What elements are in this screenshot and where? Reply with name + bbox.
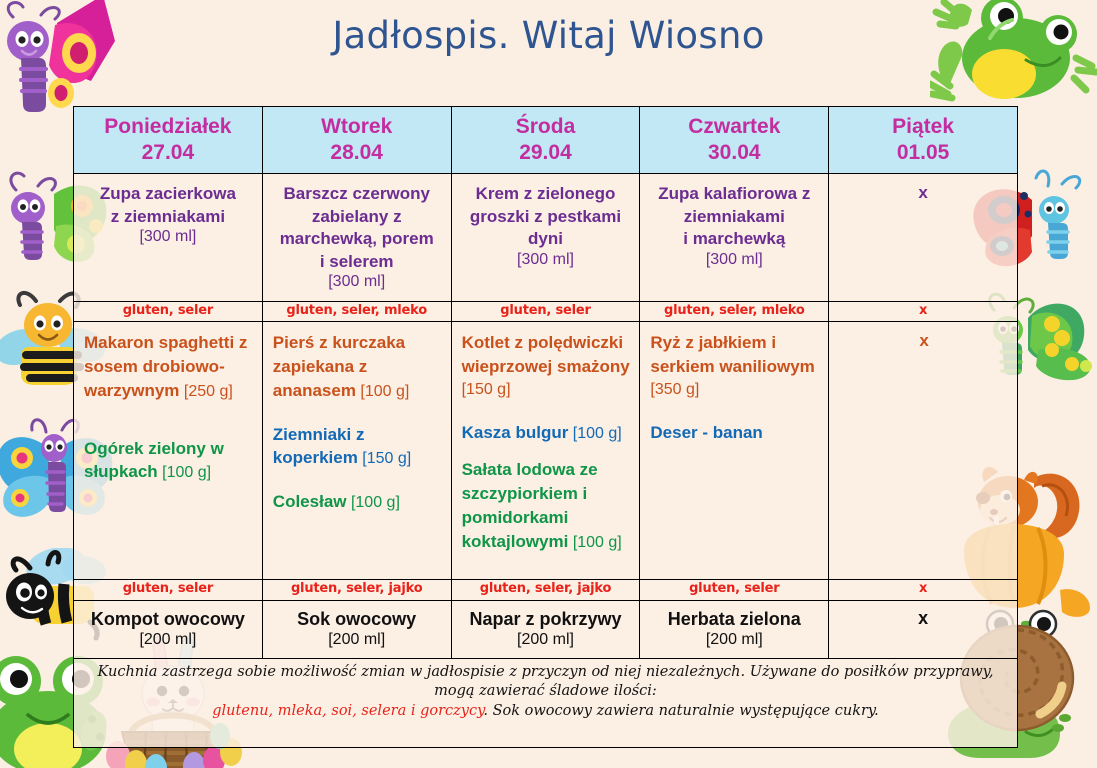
header-date-label: 01.05 <box>831 140 1015 166</box>
allergen-cell: gluten, seler <box>451 301 640 321</box>
header-cell-wednesday: Środa 29.04 <box>451 107 640 174</box>
drink-row: Kompot owocowy [200 ml] Sok owocowy [200… <box>74 600 1018 658</box>
page-title: Jadłospis. Witaj Wiosno <box>0 14 1097 57</box>
spacer <box>462 401 632 421</box>
soup-name: Zupa zacierkowaz ziemniakami <box>80 183 256 228</box>
drink-qty: [200 ml] <box>267 631 447 649</box>
salad-dish: Sałata lodowa ze szczypiorkiem i pomidor… <box>462 458 632 553</box>
footer-note-cell: Kuchnia zastrzega sobie możliwość zmian … <box>74 658 1018 747</box>
main-dish-qty: [150 g] <box>462 381 511 398</box>
drink-qty: [200 ml] <box>78 631 258 649</box>
soup-qty: [300 ml] <box>80 228 256 246</box>
table-header-row: Poniedziałek 27.04 Wtorek 28.04 Środa 29… <box>74 107 1018 174</box>
main-dish-qty: [100 g] <box>360 383 409 400</box>
dessert-dish: Deser - banan <box>650 421 820 445</box>
soup-cell-wednesday: Krem z zielonegogroszki z pestkamidyni [… <box>451 174 640 302</box>
drink-qty: [200 ml] <box>456 631 636 649</box>
allergen-row-soup: gluten, seler gluten, seler, mleko glute… <box>74 301 1018 321</box>
side-dish-qty: [150 g] <box>362 450 411 467</box>
allergen-cell: gluten, seler <box>74 580 263 600</box>
spacer <box>650 401 820 421</box>
spacer <box>84 403 254 423</box>
header-day-label: Poniedziałek <box>76 114 260 140</box>
header-date-label: 27.04 <box>76 140 260 166</box>
allergen-cell: gluten, seler <box>640 580 829 600</box>
main-dish-qty: [250 g] <box>184 383 233 400</box>
drink-name: Kompot owocowy <box>78 608 258 631</box>
header-cell-thursday: Czwartek 30.04 <box>640 107 829 174</box>
footer-note-line1: Kuchnia zastrzega sobie możliwość zmian … <box>97 664 993 699</box>
drink-none-mark: x <box>833 608 1013 629</box>
spacer <box>84 423 254 437</box>
side-dish: Kasza bulgur [100 g] <box>462 421 632 445</box>
drink-name: Napar z pokrzywy <box>456 608 636 631</box>
soup-cell-friday: x <box>829 174 1018 302</box>
main-dish: Makaron spaghetti z sosem drobiowo-warzy… <box>84 331 254 402</box>
spacer <box>273 403 443 423</box>
header-cell-tuesday: Wtorek 28.04 <box>262 107 451 174</box>
header-day-label: Środa <box>454 114 638 140</box>
header-day-label: Piątek <box>831 114 1015 140</box>
header-date-label: 29.04 <box>454 140 638 166</box>
drink-name: Sok owocowy <box>267 608 447 631</box>
header-cell-friday: Piątek 01.05 <box>829 107 1018 174</box>
menu-table: Poniedziałek 27.04 Wtorek 28.04 Środa 29… <box>73 106 1018 748</box>
side-dish-qty: [100 g] <box>573 425 622 442</box>
allergen-cell: gluten, seler, jajko <box>262 580 451 600</box>
main-dish: Pierś z kurczaka zapiekana z ananasem [1… <box>273 331 443 402</box>
drink-cell-thursday: Herbata zielona [200 ml] <box>640 600 829 658</box>
allergen-cell: x <box>829 580 1018 600</box>
drink-cell-tuesday: Sok owocowy [200 ml] <box>262 600 451 658</box>
header-cell-monday: Poniedziałek 27.04 <box>74 107 263 174</box>
salad-name: Colesław <box>273 492 347 511</box>
allergen-cell: gluten, seler, mleko <box>262 301 451 321</box>
allergen-cell: gluten, seler <box>74 301 263 321</box>
main-dish: Ryż z jabłkiem i serkiem waniliowym [350… <box>650 331 820 400</box>
spacer <box>462 444 632 458</box>
salad-dish: Ogórek zielony w słupkach [100 g] <box>84 437 254 485</box>
allergen-cell: x <box>829 301 1018 321</box>
header-day-label: Wtorek <box>265 114 449 140</box>
main-dish-name: Kotlet z polędwiczki wieprzowej smażony <box>462 333 630 376</box>
drink-cell-wednesday: Napar z pokrzywy [200 ml] <box>451 600 640 658</box>
soup-none-mark: x <box>835 183 1011 203</box>
salad-qty: [100 g] <box>351 494 400 511</box>
main-course-row: Makaron spaghetti z sosem drobiowo-warzy… <box>74 322 1018 580</box>
salad-qty: [100 g] <box>162 464 211 481</box>
drink-qty: [200 ml] <box>644 631 824 649</box>
allergen-cell: gluten, seler, mleko <box>640 301 829 321</box>
drink-name: Herbata zielona <box>644 608 824 631</box>
dessert-name: Deser - banan <box>650 423 762 442</box>
allergen-row-main: gluten, seler gluten, seler, jajko glute… <box>74 580 1018 600</box>
soup-name: Barszcz czerwonyzabielany zmarchewką, po… <box>269 183 445 273</box>
side-dish: Ziemniaki z koperkiem [150 g] <box>273 423 443 471</box>
allergen-cell: gluten, seler, jajko <box>451 580 640 600</box>
soup-qty: [300 ml] <box>458 251 634 269</box>
footer-note-allergens: glutenu, mleka, soi, selera i gorczycy <box>212 703 483 719</box>
main-none-mark: x <box>839 331 1009 351</box>
menu-poster: Jadłospis. Witaj Wiosno Poniedziałek 27.… <box>0 0 1097 768</box>
main-dish-qty: [350 g] <box>650 381 699 398</box>
header-date-label: 30.04 <box>642 140 826 166</box>
main-cell-friday: x <box>829 322 1018 580</box>
footer-note-row: Kuchnia zastrzega sobie możliwość zmian … <box>74 658 1018 747</box>
main-cell-wednesday: Kotlet z polędwiczki wieprzowej smażony … <box>451 322 640 580</box>
soup-name: Zupa kalafiorowa zziemniakamii marchewką <box>646 183 822 250</box>
drink-cell-friday: x <box>829 600 1018 658</box>
footer-note-line2-rest: . Sok owocowy zawiera naturalnie występu… <box>483 703 878 719</box>
header-date-label: 28.04 <box>265 140 449 166</box>
spacer <box>273 470 443 490</box>
drink-cell-monday: Kompot owocowy [200 ml] <box>74 600 263 658</box>
main-cell-monday: Makaron spaghetti z sosem drobiowo-warzy… <box>74 322 263 580</box>
salad-qty: [100 g] <box>573 534 622 551</box>
soup-name: Krem z zielonegogroszki z pestkamidyni <box>458 183 634 250</box>
side-dish-name: Kasza bulgur <box>462 423 569 442</box>
soup-row: Zupa zacierkowaz ziemniakami [300 ml] Ba… <box>74 174 1018 302</box>
salad-dish: Colesław [100 g] <box>273 490 443 514</box>
soup-qty: [300 ml] <box>269 273 445 291</box>
soup-cell-tuesday: Barszcz czerwonyzabielany zmarchewką, po… <box>262 174 451 302</box>
main-dish: Kotlet z polędwiczki wieprzowej smażony … <box>462 331 632 400</box>
side-dish-name: Ziemniaki z koperkiem <box>273 425 365 468</box>
header-day-label: Czwartek <box>642 114 826 140</box>
soup-qty: [300 ml] <box>646 251 822 269</box>
main-cell-thursday: Ryż z jabłkiem i serkiem waniliowym [350… <box>640 322 829 580</box>
main-cell-tuesday: Pierś z kurczaka zapiekana z ananasem [1… <box>262 322 451 580</box>
soup-cell-thursday: Zupa kalafiorowa zziemniakamii marchewką… <box>640 174 829 302</box>
main-dish-name: Ryż z jabłkiem i serkiem waniliowym <box>650 333 814 376</box>
soup-cell-monday: Zupa zacierkowaz ziemniakami [300 ml] <box>74 174 263 302</box>
